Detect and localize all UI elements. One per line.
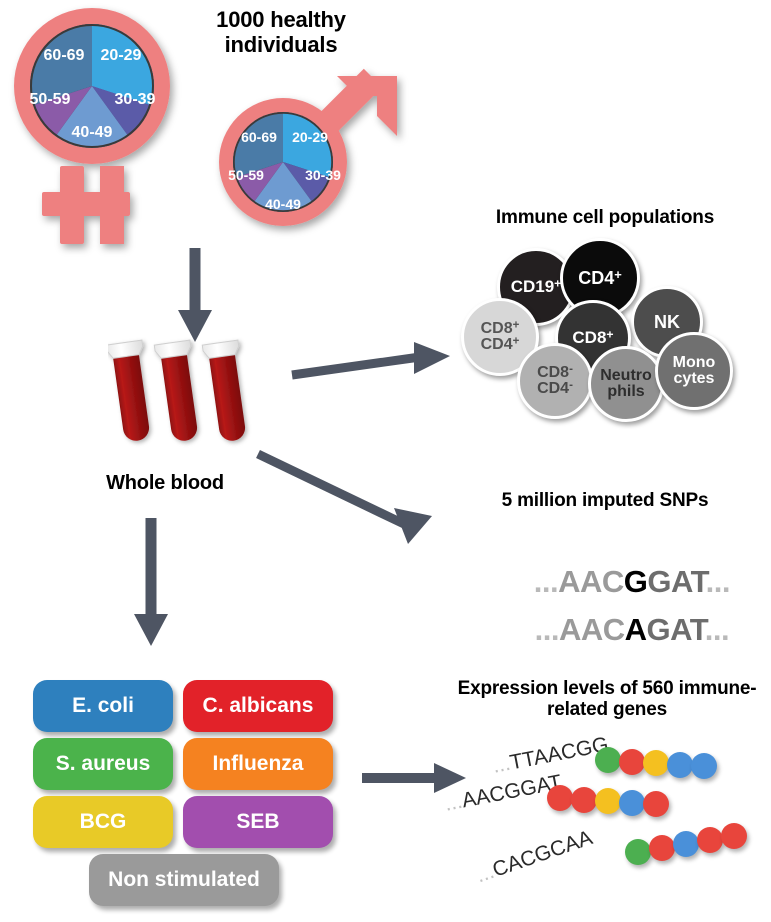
immune-cell-cluster: CD19+CD4+NKCD8+CD8+CD4+CD8-CD4-Neutrophi… bbox=[455, 238, 755, 423]
immune-cell-cd8negcd4neg[interactable]: CD8-CD4- bbox=[517, 343, 593, 419]
charge-superscript: - bbox=[569, 363, 573, 375]
stimulus-label: C. albicans bbox=[203, 694, 314, 718]
gene-bead-red bbox=[649, 835, 675, 861]
gene-bead-yellow bbox=[595, 788, 621, 814]
charge-superscript: + bbox=[513, 336, 520, 348]
gene-strand-sequence: ...CACGCAA bbox=[473, 826, 596, 888]
snp-bases-before: AAC bbox=[559, 612, 625, 647]
stimulus-label: Influenza bbox=[212, 752, 303, 776]
arrow-blood-to-snps bbox=[252, 448, 442, 546]
gene-strand-cluster: ...TTAACGG...AACGGAT...CACGCAA bbox=[455, 735, 771, 915]
snp-sequence-row: ...AACAGAT... bbox=[470, 576, 745, 684]
gene-bead-green bbox=[625, 839, 651, 865]
immune-cell-label: cytes bbox=[674, 371, 715, 387]
gene-bead-red bbox=[721, 823, 747, 849]
charge-superscript: - bbox=[569, 380, 573, 392]
female-symbol: 60-69 20-29 50-59 30-39 40-49 bbox=[2, 6, 182, 251]
stimulus-label: SEB bbox=[236, 810, 279, 834]
immune-cell-label: CD8+ bbox=[481, 321, 520, 337]
pie-label-20-29: 20-29 bbox=[292, 129, 328, 145]
charge-superscript: + bbox=[513, 319, 520, 331]
stimuli-panel: E. coliC. albicansS. aureusInfluenzaBCGS… bbox=[33, 680, 333, 890]
gene-bead-blue bbox=[619, 790, 645, 816]
immune-cell-label: CD4+ bbox=[578, 269, 622, 287]
page-title-individuals: 1000 healthy individuals bbox=[176, 8, 386, 57]
gene-bead-blue bbox=[667, 752, 693, 778]
pie-label-60-69: 60-69 bbox=[241, 129, 277, 145]
pie-label-20-29: 20-29 bbox=[101, 47, 142, 64]
pie-label-60-69: 60-69 bbox=[44, 47, 85, 64]
snp-suffix-dots: ... bbox=[705, 612, 729, 647]
stimulus-box-non-stimulated[interactable]: Non stimulated bbox=[89, 854, 279, 906]
immune-cell-label: CD8- bbox=[537, 365, 573, 381]
page-title-snps: 5 million imputed SNPs bbox=[450, 490, 760, 511]
arrow-blood-to-stimuli bbox=[129, 518, 173, 648]
pie-label-30-39: 30-39 bbox=[115, 91, 156, 108]
gene-bead-blue bbox=[673, 831, 699, 857]
immune-cell-neutrophils[interactable]: Neutrophils bbox=[588, 346, 664, 422]
immune-cell-label: CD19+ bbox=[511, 278, 562, 295]
stimulus-label: E. coli bbox=[72, 694, 134, 718]
snp-bases-after: GAT bbox=[647, 612, 705, 647]
immune-cell-monocytes[interactable]: Monocytes bbox=[655, 332, 733, 410]
gene-bead-red bbox=[571, 787, 597, 813]
pie-label-30-39: 30-39 bbox=[305, 167, 341, 183]
gene-bead-red bbox=[547, 785, 573, 811]
gene-strand-sequence: ...AACGGAT bbox=[443, 771, 564, 817]
strand-bases: CACGCAA bbox=[490, 826, 596, 882]
stimulus-box-e-coli[interactable]: E. coli bbox=[33, 680, 173, 732]
immune-cell-label: CD8+ bbox=[572, 329, 613, 346]
diagram-canvas: 60-69 20-29 50-59 30-39 40-49 bbox=[0, 0, 771, 922]
charge-superscript: + bbox=[614, 267, 622, 282]
gene-bead-red bbox=[643, 791, 669, 817]
immune-cell-label: CD4+ bbox=[481, 337, 520, 353]
gene-bead-red bbox=[619, 749, 645, 775]
blood-tubes bbox=[108, 336, 268, 466]
snp-prefix-dots: ... bbox=[535, 612, 559, 647]
stimulus-label: Non stimulated bbox=[108, 868, 260, 892]
pie-label-40-49: 40-49 bbox=[265, 196, 301, 212]
pie-label-40-49: 40-49 bbox=[72, 124, 113, 141]
immune-cell-label: Mono bbox=[673, 355, 716, 371]
gene-bead-blue bbox=[691, 753, 717, 779]
page-title-expression: Expression levels of 560 immune-related … bbox=[448, 678, 766, 721]
immune-cell-label: NK bbox=[654, 313, 680, 331]
arrow-cohort-to-blood bbox=[170, 248, 220, 344]
stimulus-box-seb[interactable]: SEB bbox=[183, 796, 333, 848]
charge-superscript: + bbox=[606, 328, 613, 342]
gene-bead-green bbox=[595, 747, 621, 773]
gene-bead-red bbox=[697, 827, 723, 853]
immune-cell-label: phils bbox=[607, 384, 644, 400]
stimulus-label: BCG bbox=[80, 810, 127, 834]
page-title-immune-cells: Immune cell populations bbox=[450, 207, 760, 228]
stimulus-box-s-aureus[interactable]: S. aureus bbox=[33, 738, 173, 790]
label-whole-blood: Whole blood bbox=[70, 472, 260, 494]
male-symbol: 60-69 20-29 50-59 30-39 40-49 bbox=[205, 72, 420, 257]
stimulus-box-bcg[interactable]: BCG bbox=[33, 796, 173, 848]
snp-sequence-block: ...AACGGAT... ...AACAGAT... bbox=[470, 528, 745, 620]
stimulus-label: S. aureus bbox=[56, 752, 151, 776]
snp-variant-allele: A bbox=[625, 612, 647, 647]
pie-label-50-59: 50-59 bbox=[30, 91, 71, 108]
immune-cell-label: Neutro bbox=[600, 368, 652, 384]
immune-cell-label: CD4- bbox=[537, 381, 573, 397]
stimulus-box-influenza[interactable]: Influenza bbox=[183, 738, 333, 790]
arrow-blood-to-immune-cells bbox=[288, 330, 458, 385]
stimulus-box-c-albicans[interactable]: C. albicans bbox=[183, 680, 333, 732]
strand-bases: TTAACGG bbox=[508, 733, 611, 775]
pie-label-50-59: 50-59 bbox=[228, 167, 264, 183]
gene-bead-yellow bbox=[643, 750, 669, 776]
